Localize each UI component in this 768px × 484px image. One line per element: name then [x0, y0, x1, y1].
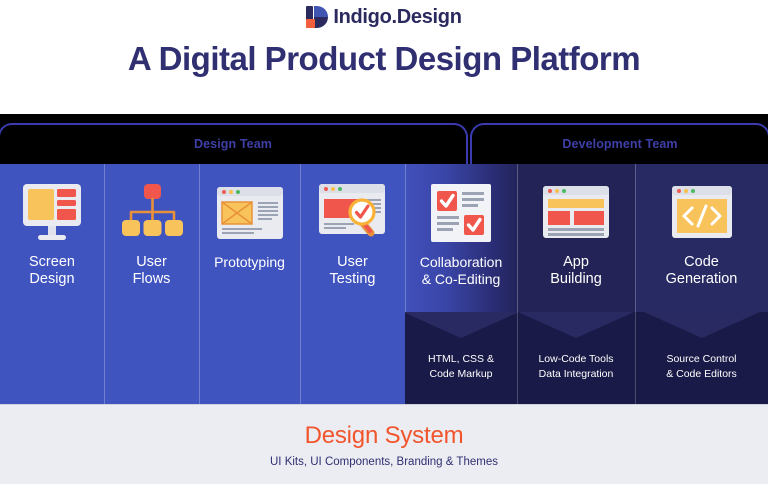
chevron-notch-icon: [518, 312, 634, 338]
team-header-band: Design Team Development Team: [0, 114, 768, 164]
column-collaboration[interactable]: Collaboration & Co-Editing HTML, CSS & C…: [405, 164, 517, 404]
sub-label-app-building: Low-Code Tools Data Integration: [517, 352, 635, 382]
label-line-1: Collaboration: [420, 254, 503, 271]
column-label-app-building: App Building: [546, 254, 606, 288]
column-user-testing[interactable]: User Testing: [300, 164, 405, 404]
page-title: A Digital Product Design Platform: [0, 40, 768, 78]
column-label-code-generation: Code Generation: [662, 254, 742, 288]
label-line-2: Design: [29, 271, 75, 288]
sub-panel-app-building: Low-Code Tools Data Integration: [517, 312, 635, 404]
sub-label-collaboration: HTML, CSS & Code Markup: [405, 352, 517, 382]
sub-line-1: Source Control: [641, 352, 762, 367]
capability-columns: Screen Design User Flows: [0, 164, 768, 404]
footer-subtitle: UI Kits, UI Components, Branding & Theme…: [270, 456, 498, 468]
column-label-collaboration: Collaboration & Co-Editing: [416, 254, 507, 287]
infographic-page: Indigo.Design A Digital Product Design P…: [0, 0, 768, 484]
sub-label-code-generation: Source Control & Code Editors: [635, 352, 768, 382]
column-label-user-testing: User Testing: [326, 254, 380, 288]
column-code-generation[interactable]: Code Generation Source Control & Code Ed…: [635, 164, 768, 404]
sub-line-2: & Code Editors: [641, 367, 762, 382]
sub-panel-code-generation: Source Control & Code Editors: [635, 312, 768, 404]
chevron-notch-icon: [405, 312, 517, 338]
column-label-screen-design: Screen Design: [25, 254, 79, 288]
column-screen-design[interactable]: Screen Design: [0, 164, 104, 404]
app-layout-window-icon: [541, 172, 611, 254]
design-system-footer: Design System UI Kits, UI Components, Br…: [0, 404, 768, 484]
label-line-1: User: [133, 254, 171, 271]
code-brackets-window-icon: [670, 172, 734, 254]
chevron-notch-icon: [644, 312, 760, 338]
column-app-building[interactable]: App Building Low-Code Tools Data Integra…: [517, 164, 635, 404]
column-label-user-flows: User Flows: [129, 254, 175, 288]
footer-title: Design System: [305, 422, 464, 450]
team-label-development: Development Team: [562, 137, 677, 151]
checklist-icon: [429, 172, 493, 254]
label-line-1: Code: [666, 254, 738, 271]
sub-line-1: HTML, CSS &: [411, 352, 511, 367]
label-line-2: & Co-Editing: [420, 271, 503, 288]
brand-name: Indigo.Design: [333, 6, 461, 29]
label-line-2: Flows: [133, 271, 171, 288]
column-label-prototyping: Prototyping: [210, 254, 289, 271]
sub-panel-collaboration: HTML, CSS & Code Markup: [405, 312, 517, 404]
flowchart-icon: [119, 172, 185, 254]
column-user-flows[interactable]: User Flows: [104, 164, 199, 404]
label-line-1: User: [330, 254, 376, 271]
sub-line-1: Low-Code Tools: [523, 352, 629, 367]
label-line-1: App: [550, 254, 602, 271]
magnifier-check-icon: [317, 172, 389, 254]
sub-line-2: Code Markup: [411, 367, 511, 382]
monitor-screen-icon: [19, 172, 85, 254]
label-line-2: Building: [550, 271, 602, 288]
label-line-1: Prototyping: [214, 254, 285, 271]
team-label-design: Design Team: [194, 137, 272, 151]
indigo-design-logo-icon: [306, 6, 328, 28]
label-line-1: Screen: [29, 254, 75, 271]
brand-header: Indigo.Design: [0, 0, 768, 30]
sub-line-2: Data Integration: [523, 367, 629, 382]
label-line-2: Generation: [666, 271, 738, 288]
wireframe-window-icon: [215, 172, 285, 254]
label-line-2: Testing: [330, 271, 376, 288]
column-prototyping[interactable]: Prototyping: [199, 164, 300, 404]
